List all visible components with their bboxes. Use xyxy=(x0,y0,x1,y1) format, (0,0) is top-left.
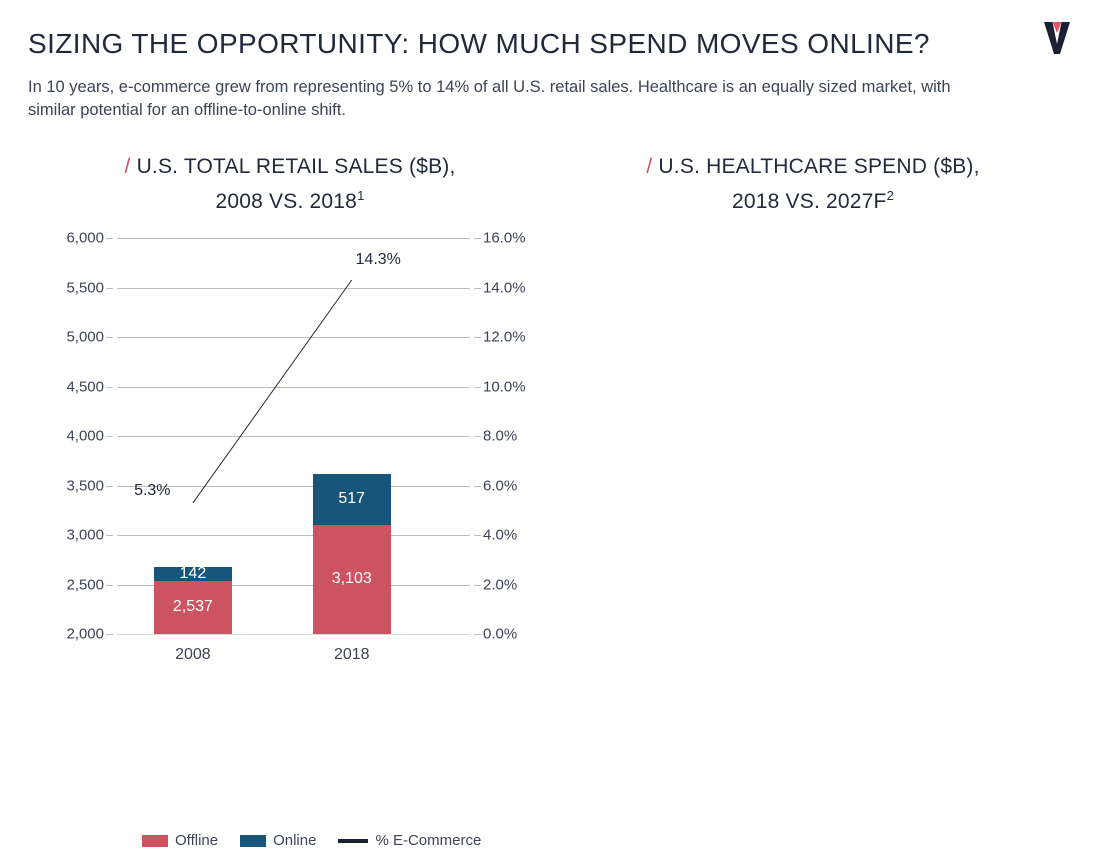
bar-segment-online[interactable]: 142 xyxy=(154,567,232,581)
x-axis-label-2008: 2008 xyxy=(175,646,211,664)
title-slash-accent: / xyxy=(124,155,130,178)
legend-swatch-offline-icon xyxy=(142,835,168,847)
bar-value-label: 2,537 xyxy=(173,598,213,616)
bar-2008[interactable]: 2,537 142 xyxy=(154,567,232,634)
y-axis-label: 6,000 xyxy=(66,230,104,247)
plot-area-retail: 6,00016.0% 5,50014.0% 5,00012.0% 4,50010… xyxy=(117,238,470,634)
legend-label: % E-Commerce xyxy=(375,832,481,849)
bar-2018[interactable]: 3,103 517 xyxy=(313,474,391,634)
chart-title-line1: U.S. TOTAL RETAIL SALES ($B), xyxy=(137,155,456,178)
legend-swatch-online-icon xyxy=(240,835,266,847)
y2-axis-label: 12.0% xyxy=(483,329,526,346)
y-axis-label: 4,500 xyxy=(66,378,104,395)
chart-panel-healthcare: / U.S. HEALTHCARE SPEND ($B), 2018 VS. 2… xyxy=(548,152,1078,712)
y-axis-label: 5,000 xyxy=(66,329,104,346)
chart-title-footnote-marker: 1 xyxy=(357,188,364,203)
bar-value-label: 517 xyxy=(338,490,365,508)
y2-axis-label: 2.0% xyxy=(483,576,517,593)
y-axis-label: 5,500 xyxy=(66,279,104,296)
y2-axis-label: 10.0% xyxy=(483,378,526,395)
y2-axis-label: 4.0% xyxy=(483,527,517,544)
chart-title-line2: 2008 VS. 2018 xyxy=(216,190,358,213)
bar-segment-offline[interactable]: 2,537 xyxy=(154,581,232,634)
y2-axis-label: 14.0% xyxy=(483,279,526,296)
legend-item-ecommerce[interactable]: % E-Commerce xyxy=(338,832,481,849)
chart-title-line2: 2018 VS. 2027F xyxy=(732,190,887,213)
bar-segment-offline[interactable]: 3,103 xyxy=(313,525,391,634)
chart-title-footnote-marker: 2 xyxy=(887,188,894,203)
y-axis-label: 3,000 xyxy=(66,527,104,544)
y-axis-label: 3,500 xyxy=(66,477,104,494)
v-logo-icon xyxy=(1036,14,1078,56)
page-title: SIZING THE OPPORTUNITY: HOW MUCH SPEND M… xyxy=(28,28,930,60)
y-axis-label: 2,500 xyxy=(66,576,104,593)
chart-title-line1: U.S. HEALTHCARE SPEND ($B), xyxy=(658,155,979,178)
legend-item-online[interactable]: Online xyxy=(240,832,316,849)
bar-value-label: 142 xyxy=(180,565,207,583)
legend-item-offline[interactable]: Offline xyxy=(142,832,218,849)
y2-axis-label: 0.0% xyxy=(483,626,517,643)
title-slash-accent: / xyxy=(646,155,652,178)
page-subtitle: In 10 years, e-commerce grew from repres… xyxy=(28,76,998,122)
chart-title-healthcare: / U.S. HEALTHCARE SPEND ($B), 2018 VS. 2… xyxy=(548,152,1078,216)
y2-axis-label: 16.0% xyxy=(483,230,526,247)
legend-label: Offline xyxy=(175,832,218,849)
bar-segment-online[interactable]: 517 xyxy=(313,474,391,525)
legend-label: Online xyxy=(273,832,316,849)
chart-title-retail: / U.S. TOTAL RETAIL SALES ($B), 2008 VS.… xyxy=(30,152,550,216)
line-point-label-2008: 5.3% xyxy=(134,482,170,500)
y-axis-label: 2,000 xyxy=(66,626,104,643)
y2-axis-label: 8.0% xyxy=(483,428,517,445)
legend-line-icon xyxy=(338,839,368,843)
x-axis-label-2018: 2018 xyxy=(334,646,370,664)
legend-retail: Offline Online % E-Commerce xyxy=(142,832,481,849)
chart-panel-retail: / U.S. TOTAL RETAIL SALES ($B), 2008 VS.… xyxy=(30,152,550,712)
y-axis-label: 4,000 xyxy=(66,428,104,445)
line-point-label-2018: 14.3% xyxy=(356,251,401,269)
bar-value-label: 3,103 xyxy=(332,570,372,588)
y2-axis-label: 6.0% xyxy=(483,477,517,494)
